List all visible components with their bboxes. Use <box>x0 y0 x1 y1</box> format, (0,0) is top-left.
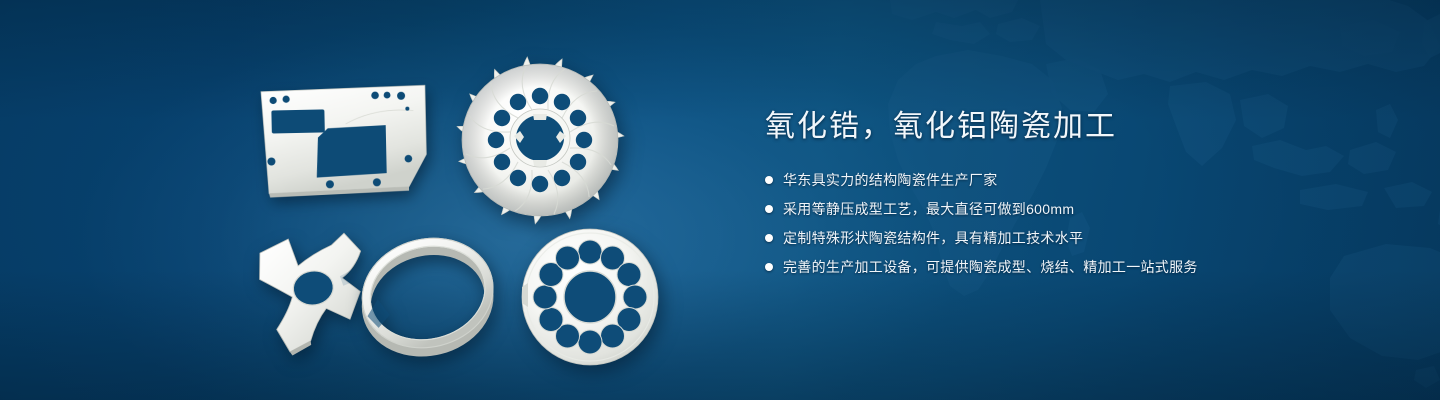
banner-copy: 氧化锆，氧化铝陶瓷加工 华东具实力的结构陶瓷件生产厂家 采用等静压成型工艺，最大… <box>765 108 1325 284</box>
list-item: 华东具实力的结构陶瓷件生产厂家 <box>765 168 1325 192</box>
bullet-text: 华东具实力的结构陶瓷件生产厂家 <box>783 168 998 192</box>
list-item: 完善的生产加工设备，可提供陶瓷成型、烧结、精加工一站式服务 <box>765 255 1325 279</box>
bullet-dot-icon <box>765 176 773 184</box>
bullet-dot-icon <box>765 234 773 242</box>
ceramic-impeller-image <box>448 50 632 228</box>
list-item: 采用等静压成型工艺，最大直径可做到600mm <box>765 197 1325 221</box>
bullet-dot-icon <box>765 263 773 271</box>
ceramic-ring-image <box>352 228 512 360</box>
ceramic-plate-image <box>257 82 431 198</box>
bullet-text: 完善的生产加工设备，可提供陶瓷成型、烧结、精加工一站式服务 <box>783 255 1198 279</box>
ceramic-holed-flange-image <box>518 226 662 368</box>
bullet-text: 采用等静压成型工艺，最大直径可做到600mm <box>783 197 1074 221</box>
bullet-text: 定制特殊形状陶瓷结构件，具有精加工技术水平 <box>783 226 1083 250</box>
product-image-group <box>0 0 720 400</box>
bullet-dot-icon <box>765 205 773 213</box>
hero-banner: 氧化锆，氧化铝陶瓷加工 华东具实力的结构陶瓷件生产厂家 采用等静压成型工艺，最大… <box>0 0 1440 400</box>
feature-bullet-list: 华东具实力的结构陶瓷件生产厂家 采用等静压成型工艺，最大直径可做到600mm 定… <box>765 168 1325 279</box>
list-item: 定制特殊形状陶瓷结构件，具有精加工技术水平 <box>765 226 1325 250</box>
page-title: 氧化锆，氧化铝陶瓷加工 <box>765 108 1325 146</box>
